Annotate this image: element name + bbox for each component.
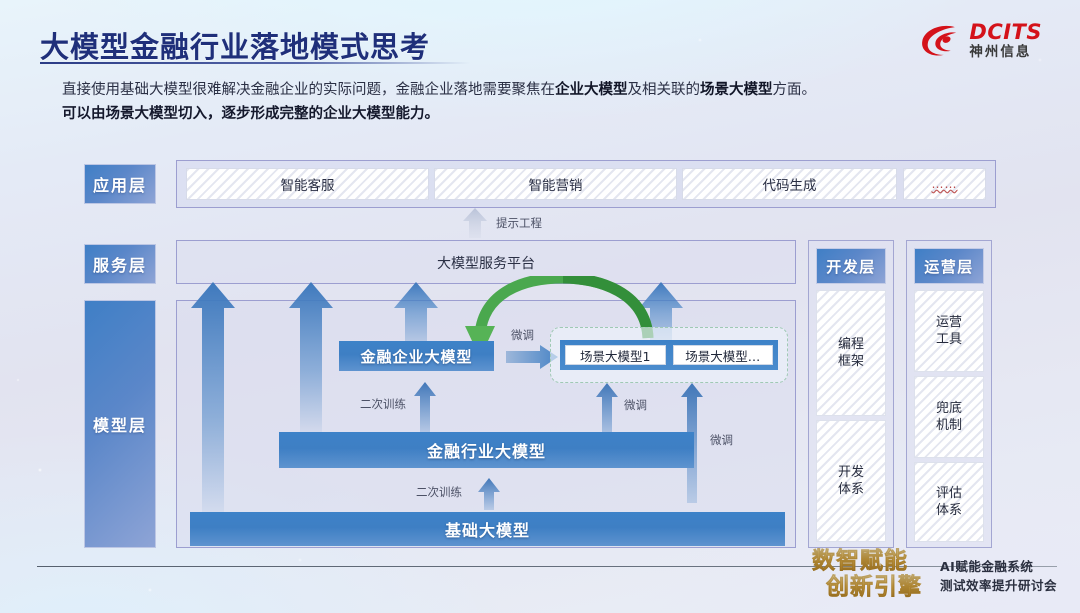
label-finetune-2: 微调 bbox=[624, 397, 647, 413]
app-card-label: 智能营销 bbox=[529, 174, 583, 194]
app-card-label: 智能客服 bbox=[281, 174, 335, 194]
conference-line-2: 测试效率提升研讨会 bbox=[940, 576, 1057, 595]
arrow-up-retrain-2-icon bbox=[477, 478, 501, 510]
watermark-line-2: 创新引擎 bbox=[826, 574, 932, 600]
conference-line-1: AI赋能金融系统 bbox=[940, 557, 1057, 576]
layer-tag-application: 应用层 bbox=[84, 164, 156, 204]
dev-cell-programming-framework[interactable]: 编程 框架 bbox=[816, 290, 886, 416]
layer-tag-service: 服务层 bbox=[84, 244, 156, 284]
label-retrain-2: 二次训练 bbox=[416, 484, 462, 500]
ops-cell-fallback-mechanism[interactable]: 兜底 机制 bbox=[914, 376, 984, 458]
dev-cell-dev-system[interactable]: 开发 体系 bbox=[816, 420, 886, 542]
scene-model-chip-2[interactable]: 场景大模型… bbox=[673, 345, 774, 365]
label-retrain-1: 二次训练 bbox=[360, 396, 406, 412]
scene-model-chip-1[interactable]: 场景大模型1 bbox=[565, 345, 666, 365]
app-card-more[interactable]: …… bbox=[903, 168, 986, 200]
ops-layer-title: 运营层 bbox=[914, 248, 984, 284]
label-prompt-engineering: 提示工程 bbox=[496, 215, 542, 231]
label-finetune-3: 微调 bbox=[710, 432, 733, 448]
prompt-arrow-up-icon bbox=[462, 208, 488, 238]
scene-models-bar: 场景大模型1 场景大模型… bbox=[560, 340, 778, 370]
conference-name: AI赋能金融系统 测试效率提升研讨会 bbox=[940, 557, 1057, 595]
label-finetune-1: 微调 bbox=[511, 327, 534, 343]
ops-cell-operation-tools[interactable]: 运营 工具 bbox=[914, 290, 984, 372]
architecture-diagram: 应用层 服务层 模型层 智能客服 智能营销 代码生成 …… 提示工程 大模型服务… bbox=[0, 0, 1080, 613]
ops-cell-evaluation-system[interactable]: 评估 体系 bbox=[914, 462, 984, 542]
watermark-line-1: 数智赋能 bbox=[812, 548, 932, 574]
app-card-smart-service[interactable]: 智能客服 bbox=[186, 168, 429, 200]
dev-layer-title: 开发层 bbox=[816, 248, 886, 284]
model-box-industry[interactable]: 金融行业大模型 bbox=[279, 432, 694, 468]
arrow-up-retrain-1-icon bbox=[413, 382, 437, 434]
app-card-smart-marketing[interactable]: 智能营销 bbox=[434, 168, 677, 200]
app-card-code-generation[interactable]: 代码生成 bbox=[682, 168, 897, 200]
event-watermark: 数智赋能 创新引擎 bbox=[812, 548, 932, 606]
app-card-label: …… bbox=[932, 177, 958, 191]
model-box-enterprise[interactable]: 金融企业大模型 bbox=[339, 341, 494, 371]
app-card-label: 代码生成 bbox=[763, 174, 817, 194]
model-box-foundation[interactable]: 基础大模型 bbox=[190, 512, 785, 546]
layer-tag-model: 模型层 bbox=[84, 300, 156, 548]
service-platform-label: 大模型服务平台 bbox=[176, 253, 796, 273]
